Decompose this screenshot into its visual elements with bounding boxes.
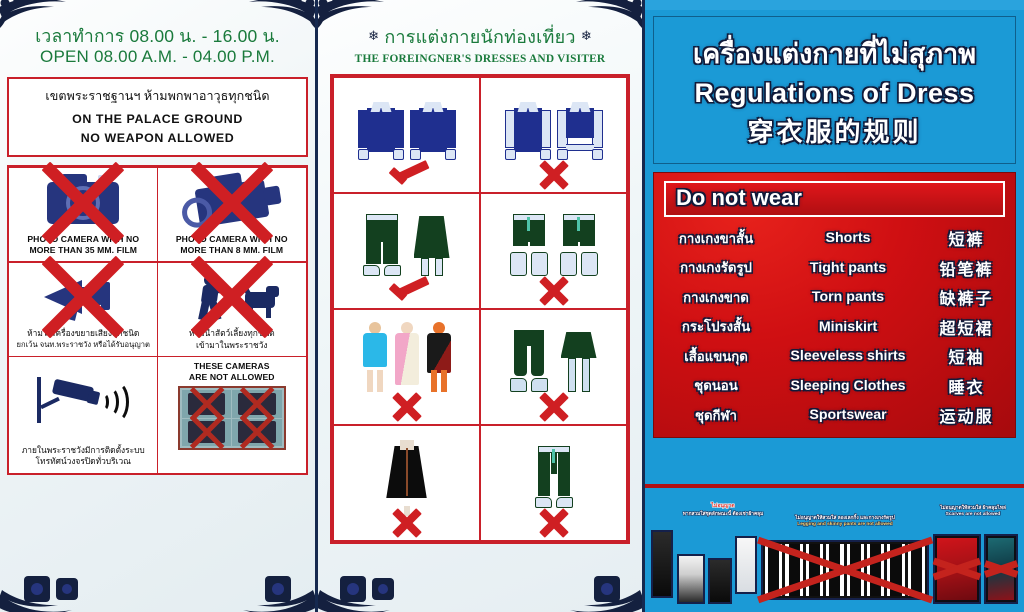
caption-line-2: MORE THAN 35 MM. FILM (29, 245, 137, 256)
item-english: Torn pants (768, 289, 928, 305)
dress-cell-leggings-miniskirt-not-allowed (479, 308, 628, 426)
item-chinese: 缺裤子 (928, 285, 1005, 309)
do-not-wear-title-box: Do not wear (664, 181, 1005, 217)
red-x-icon (232, 419, 282, 447)
item-thai: ชุดนอน (664, 375, 768, 396)
photo-caption-group-2: ไม่อนุญาตให้สวมใส่ ลองเลกกิ้ง และกางเกงร… (795, 514, 895, 527)
item-chinese: 运动服 (928, 403, 1005, 427)
list-item: ชุดกีฬา Sportswear 运动服 (664, 403, 1005, 427)
dress-regulations-header: เครื่องแต่งกายที่ไม่สุภาพ Regulations of… (653, 16, 1016, 164)
red-x-icon (161, 172, 303, 234)
dress-cell-skinny-pants-not-allowed (479, 424, 628, 542)
photo-group-scarves: ไม่อนุญาตให้สวมใส่ ผ้าคลุมไหล่ Scarves a… (933, 534, 1018, 604)
prohibition-cell-pets: ห้ามนำสัตว์เลี้ยงทุกชนิด เข้ามาในพระราชว… (157, 261, 307, 357)
red-check-icon (385, 164, 429, 190)
top-accent-strip (645, 0, 1024, 10)
cropped-pants-icon (557, 214, 601, 276)
camera-collage-icon (178, 386, 286, 450)
long-sleeve-shirt-icon (358, 100, 404, 160)
red-x-icon (935, 536, 979, 602)
caption-thai: ไม่อนุญาต (683, 502, 764, 510)
megaphone-icon (12, 266, 154, 328)
item-thai: ชุดกีฬา (664, 405, 768, 426)
short-sleeve-shirt-icon (410, 100, 456, 160)
weapon-notice-english-1: ON THE PALACE GROUND (13, 110, 302, 129)
red-x-icon (232, 390, 282, 418)
caption-english: Legging and skinny pants are not allowed (795, 522, 895, 527)
ornament-corner-bottom-left (0, 556, 90, 612)
photo-short-skirt (677, 554, 705, 604)
red-x-icon (387, 392, 427, 422)
opening-hours: เวลาทำการ 08.00 น. - 16.00 น. OPEN 08.00… (8, 26, 307, 68)
red-x-icon (986, 536, 1016, 602)
item-english: Miniskirt (768, 319, 928, 335)
dress-cell-long-sleeve-shirts-allowed (332, 76, 481, 194)
red-check-icon (385, 280, 429, 306)
red-x-icon (161, 266, 303, 328)
do-not-wear-list: กางเกงขาสั้น Shorts 短裤 กางเกงรัดรูป Tigh… (664, 226, 1005, 427)
flower-ornament-icon: ❄ (368, 28, 379, 44)
right-panel: เครื่องแต่งกายที่ไม่สุภาพ Regulations of… (645, 0, 1024, 612)
middle-panel-header: ❄ การแต่งกายนักท่องเที่ยว ❄ THE FOREINGN… (318, 22, 642, 65)
dress-cell-long-robe-not-allowed (332, 424, 481, 542)
photo-black-trousers (708, 558, 732, 604)
prohibitions-grid: PHOTO CAMERA WITH NO MORE THAN 35 MM. FI… (7, 165, 308, 475)
dress-cell-sleeveless-tops-not-allowed (479, 76, 628, 194)
dress-code-grid (330, 74, 630, 544)
red-x-icon (534, 276, 574, 306)
wrapped-towel-icon (360, 322, 390, 392)
item-english: Sleeping Clothes (768, 378, 928, 394)
evening-gown-icon (392, 322, 422, 392)
caption-line-2: MORE THAN 8 MM. FILM (180, 245, 283, 256)
list-item: กางเกงรัดรูป Tight pants 铅笔裤 (664, 256, 1005, 280)
leggings-icon (507, 330, 551, 392)
ornament-corner-bottom-right (552, 556, 645, 612)
skinny-pants-icon (532, 446, 576, 508)
photo-group-leggings: ไม่อนุญาตให้สวมใส่ ลองเลกกิ้ง และกางเกงร… (761, 540, 929, 600)
list-item: กางเกงขาด Torn pants 缺裤子 (664, 285, 1005, 309)
prohibition-cell-cctv-notice: ภายในพระราชวังมีการติดตั้งระบบ โทรทัศน์ว… (8, 356, 158, 474)
photo-camera-icon (12, 172, 154, 234)
caption-line-1: THESE CAMERAS (194, 361, 270, 372)
caption-english: Scarves are not allowed (940, 512, 1006, 517)
caption-line-2: ยกเว้น จนท.พระราชวัง หรือได้รับอนุญาต (17, 340, 150, 350)
list-item: ชุดนอน Sleeping Clothes 睡衣 (664, 374, 1005, 398)
item-english: Sleeveless shirts (768, 348, 928, 364)
caption-thai: ไม่อนุญาตให้สวมใส่ ผ้าคลุมไหล่ (940, 504, 1006, 512)
pet-walking-icon (161, 266, 303, 328)
red-x-icon (534, 392, 574, 422)
long-trousers-icon (360, 214, 404, 276)
left-panel: เวลาทำการ 08.00 น. - 16.00 น. OPEN 08.00… (0, 0, 318, 612)
photo-white-cover-up (735, 536, 757, 594)
red-x-icon (534, 160, 574, 190)
short-dress-icon (424, 322, 454, 392)
opening-hours-english: OPEN 08.00 A.M. - 04.00 P.M. (8, 47, 307, 68)
middle-panel: ❄ การแต่งกายนักท่องเที่ยว ❄ THE FOREINGN… (318, 0, 645, 612)
caption-english: หากสวมใส่ชุดลักษณะนี้ ต้องเช่าผ้าคลุม (683, 510, 764, 518)
weapon-notice-thai: เขตพระราชฐานฯ ห้ามพกพาอาวุธทุกชนิด (13, 86, 302, 106)
photo-black-dress (651, 530, 673, 598)
list-item: เสื้อแขนกุด Sleeveless shirts 短袖 (664, 344, 1005, 368)
red-x-icon (763, 542, 927, 598)
header-thai: เครื่องแต่งกายที่ไม่สุภาพ (693, 32, 976, 75)
item-thai: กางเกงรัดรูป (664, 257, 768, 278)
weapon-notice: เขตพระราชฐานฯ ห้ามพกพาอาวุธทุกชนิด ON TH… (7, 77, 308, 157)
prohibition-cell-photo-camera-8mm: PHOTO CAMERA WITH NO MORE THAN 8 MM. FIL… (157, 167, 307, 263)
item-english: Sportswear (768, 407, 928, 423)
do-not-wear-section: Do not wear กางเกงขาสั้น Shorts 短裤 กางเก… (653, 172, 1016, 438)
capri-pants-icon (507, 214, 551, 276)
item-chinese: 超短裙 (928, 315, 1005, 339)
middle-header-english: THE FOREINGNER'S DRESSES AND VISITER (318, 53, 642, 65)
red-x-icon (12, 172, 154, 234)
photo-red-scarf (933, 534, 981, 604)
photo-teal-scarf (984, 534, 1018, 604)
middle-header-thai: การแต่งกายนักท่องเที่ยว (384, 27, 575, 47)
item-chinese: 短裤 (928, 226, 1005, 250)
item-chinese: 短袖 (928, 344, 1005, 368)
header-english: Regulations of Dress (694, 78, 974, 109)
cctv-camera-icon (12, 361, 154, 445)
caption-line-2: เข้ามาในพระราชวัง (196, 340, 268, 352)
red-x-icon (182, 390, 232, 418)
list-item: กระโปรงสั้น Miniskirt 超短裙 (664, 315, 1005, 339)
item-english: Shorts (768, 230, 928, 246)
long-black-robe-icon (380, 438, 434, 508)
item-thai: กางเกงขาสั้น (664, 228, 768, 249)
miniskirt-with-boots-icon (557, 330, 601, 392)
red-x-icon (387, 508, 427, 538)
do-not-wear-title: Do not wear (676, 185, 802, 210)
item-thai: กางเกงขาด (664, 287, 768, 308)
photo-caption-group-3: ไม่อนุญาตให้สวมใส่ ผ้าคลุมไหล่ Scarves a… (940, 504, 1006, 517)
red-x-icon (182, 419, 232, 447)
dress-cell-long-pants-skirt-allowed (332, 192, 481, 310)
prohibition-cell-these-cameras: THESE CAMERAS ARE NOT ALLOWED (157, 356, 307, 474)
weapon-notice-english-2: NO WEAPON ALLOWED (13, 129, 302, 148)
photo-examples-strip: ไม่อนุญาต หากสวมใส่ชุดลักษณะนี้ ต้องเช่า… (645, 484, 1024, 612)
sleeveless-dress-icon (505, 100, 551, 160)
prohibition-cell-loudspeaker: ห้ามใช้เครื่องขยายเสียงทุกชนิด ยกเว้น จน… (8, 261, 158, 357)
long-skirt-icon (410, 214, 454, 276)
item-english: Tight pants (768, 260, 928, 276)
sleeveless-top-icon (557, 100, 603, 160)
caption-line-1: ภายในพระราชวังมีการติดตั้งระบบ (22, 445, 145, 457)
item-chinese: 睡衣 (928, 374, 1005, 398)
photo-caption-group-1: ไม่อนุญาต หากสวมใส่ชุดลักษณะนี้ ต้องเช่า… (683, 502, 764, 518)
header-chinese: 穿衣服的规则 (747, 112, 921, 149)
caption-line-2: โทรทัศน์วงจรปิดทั่วบริเวณ (36, 456, 131, 468)
opening-hours-thai: เวลาทำการ 08.00 น. - 16.00 น. (8, 26, 307, 47)
prohibition-cell-photo-camera-35mm: PHOTO CAMERA WITH NO MORE THAN 35 MM. FI… (8, 167, 158, 263)
dress-cell-cropped-pants-not-allowed (479, 192, 628, 310)
red-x-icon (12, 266, 154, 328)
flower-ornament-icon: ❄ (581, 28, 592, 44)
item-thai: เสื้อแขนกุด (664, 346, 768, 367)
ornament-corner-bottom-left (318, 556, 408, 612)
list-item: กางเกงขาสั้น Shorts 短裤 (664, 226, 1005, 250)
dress-cell-revealing-outfits-not-allowed (332, 308, 481, 426)
video-camera-icon (161, 172, 303, 234)
red-x-icon (534, 508, 574, 538)
caption-thai: ไม่อนุญาตให้สวมใส่ ลองเลกกิ้ง และกางเกงร… (795, 514, 895, 522)
sign-board: เวลาทำการ 08.00 น. - 16.00 น. OPEN 08.00… (0, 0, 1024, 612)
middle-header-thai-row: ❄ การแต่งกายนักท่องเที่ยว ❄ (318, 22, 642, 51)
caption-line-2: ARE NOT ALLOWED (189, 372, 275, 383)
ornament-corner-bottom-right (225, 556, 318, 612)
item-thai: กระโปรงสั้น (664, 316, 768, 337)
item-chinese: 铅笔裤 (928, 256, 1005, 280)
